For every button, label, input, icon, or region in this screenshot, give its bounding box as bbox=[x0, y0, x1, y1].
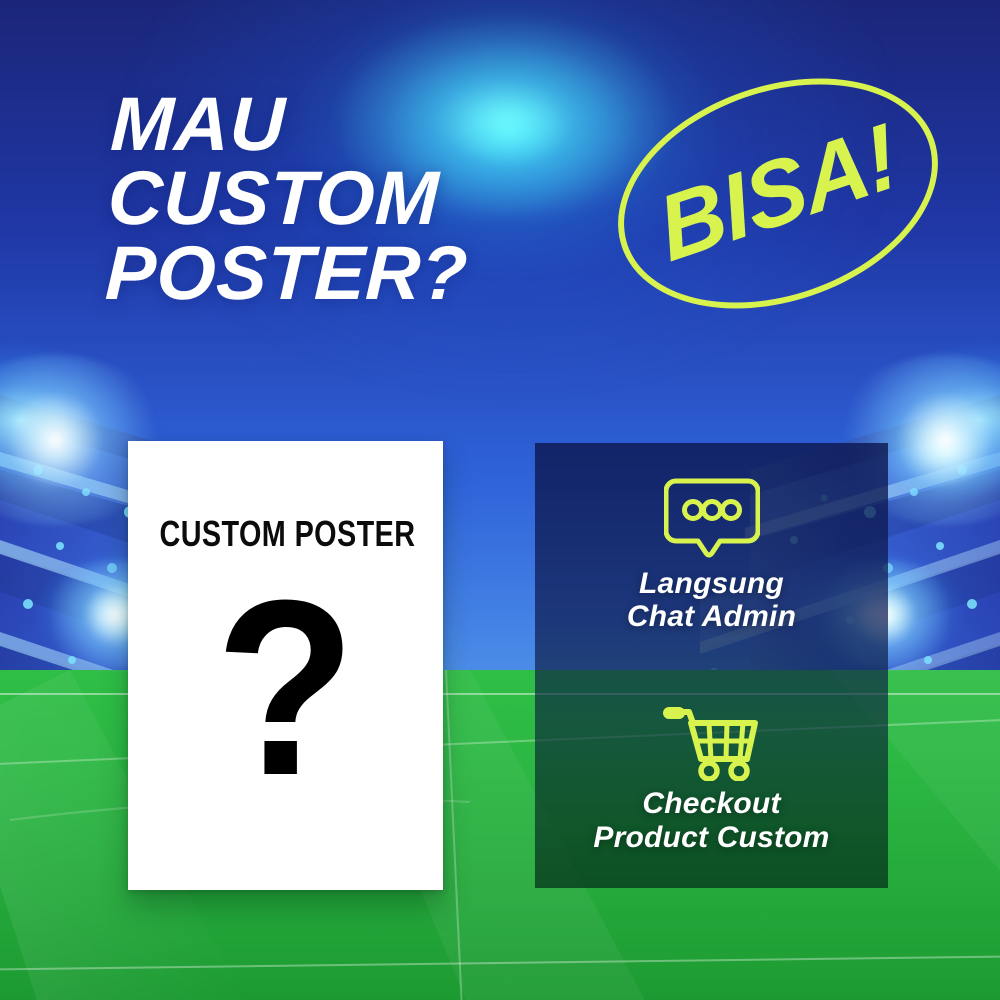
headline-line-2: CUSTOM bbox=[107, 162, 630, 236]
action-chat-admin-label: Langsung Chat Admin bbox=[627, 567, 796, 634]
action-panel: Langsung Chat Admin Checkout bbox=[535, 443, 888, 888]
promo-poster-canvas: MAU CUSTOM POSTER? BISA! CUSTOM POSTER ?… bbox=[0, 0, 1000, 1000]
action-checkout-line-1: Checkout bbox=[593, 787, 829, 821]
action-checkout-line-2: Product Custom bbox=[593, 821, 829, 855]
action-checkout-label: Checkout Product Custom bbox=[593, 787, 829, 854]
action-checkout-product[interactable]: Checkout Product Custom bbox=[535, 666, 888, 889]
action-chat-line-2: Chat Admin bbox=[627, 600, 796, 634]
page-title: MAU CUSTOM POSTER? bbox=[104, 88, 632, 311]
chat-bubble-icon bbox=[664, 475, 760, 561]
headline-line-1: MAU bbox=[109, 88, 632, 162]
shopping-cart-icon bbox=[663, 699, 761, 781]
headline-line-3: POSTER? bbox=[104, 237, 627, 311]
custom-poster-card: CUSTOM POSTER ? bbox=[128, 441, 443, 890]
action-chat-admin[interactable]: Langsung Chat Admin bbox=[535, 443, 888, 666]
action-chat-line-1: Langsung bbox=[627, 567, 796, 601]
question-mark-placeholder: ? bbox=[141, 563, 431, 813]
